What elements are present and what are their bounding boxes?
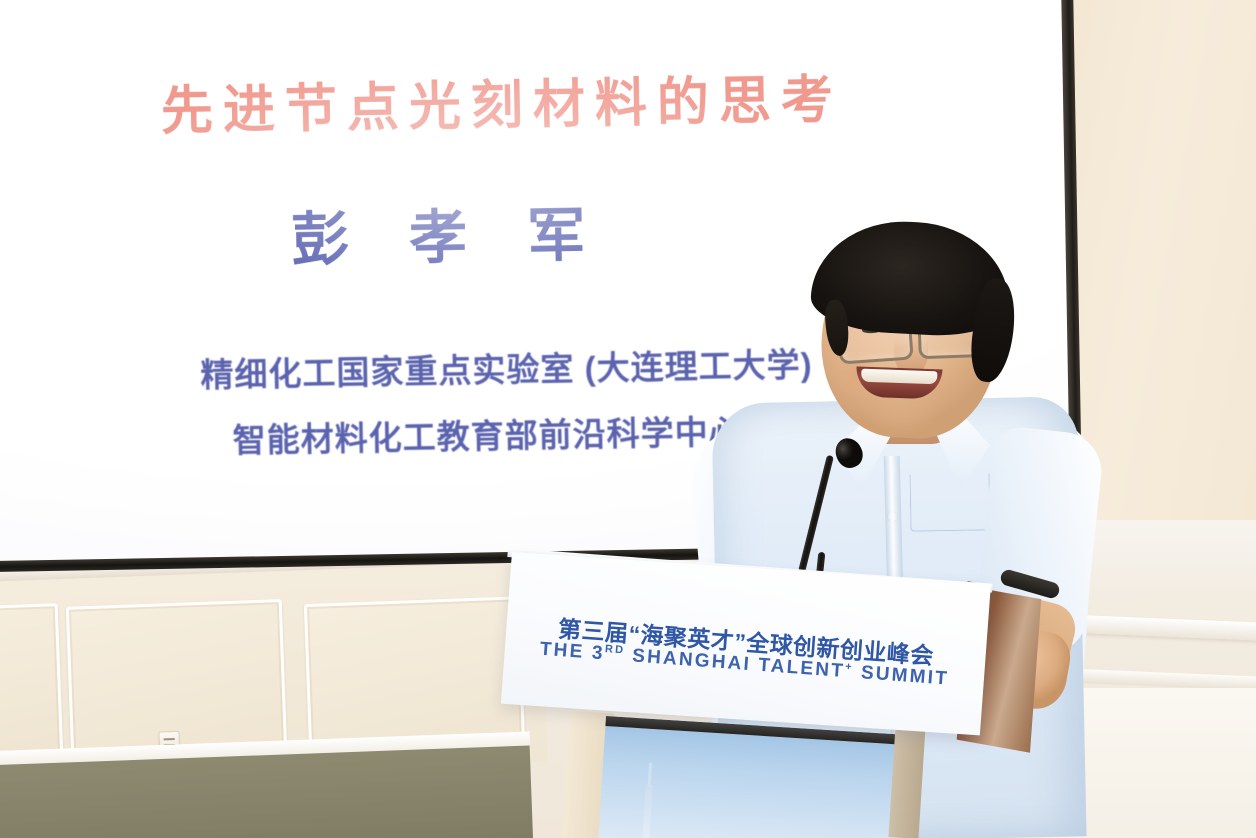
podium: 第三届“海聚英才”全球创新创业峰会 THE 3RD SHANGHAI TALEN… <box>0 0 1256 838</box>
podium-base-right-edge <box>889 725 926 838</box>
podium-en-ordinal: RD <box>605 643 626 656</box>
podium-en-part-1: THE 3 <box>539 639 605 665</box>
skyline-tower-icon <box>642 785 653 838</box>
podium-lower-graphic-panel <box>598 716 905 838</box>
screenshot-root: 先进节点光刻材料的思考 彭 孝 军 精细化工国家重点实验室 (大连理工大学) 智… <box>0 0 1256 838</box>
